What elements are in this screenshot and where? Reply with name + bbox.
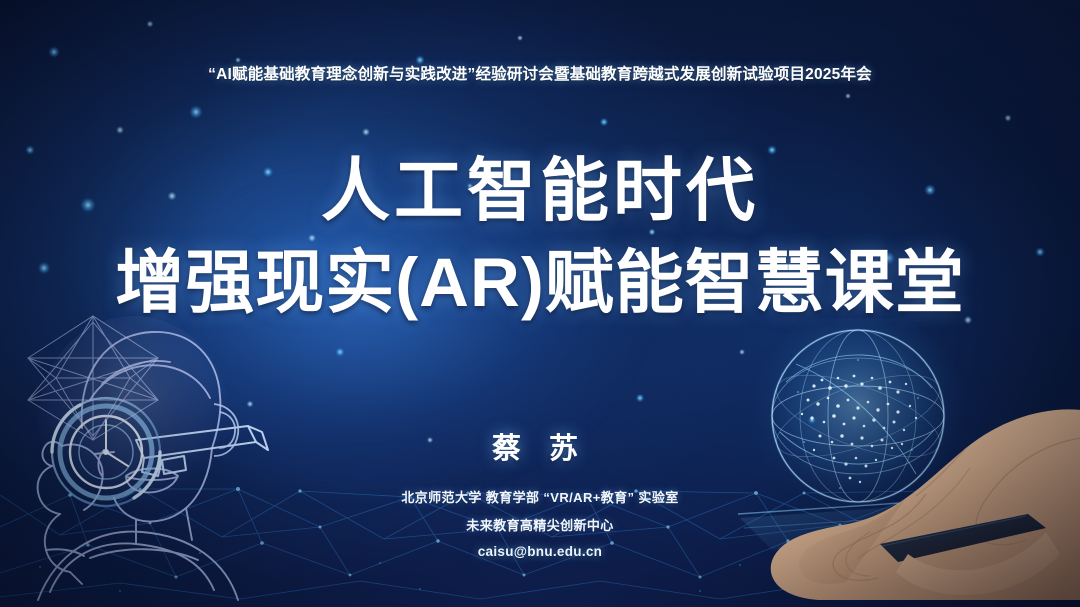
speaker-email: caisu@bnu.edu.cn xyxy=(0,544,1080,559)
speaker-affiliation-lab: 北京师范大学 教育学部 “VR/AR+教育” 实验室 xyxy=(0,487,1080,506)
conference-header-text: “AI赋能基础教育理念创新与实践改进”经验研讨会暨基础教育跨越式发展创新试验项目… xyxy=(208,62,872,84)
title-line-2: 增强现实(AR)赋能智慧课堂 xyxy=(0,240,1080,326)
title-block: 人工智能时代 增强现实(AR)赋能智慧课堂 xyxy=(0,150,1080,326)
speaker-block: 蔡 苏 北京师范大学 教育学部 “VR/AR+教育” 实验室 未来教育高精尖创新… xyxy=(0,425,1080,559)
speaker-name: 蔡 苏 xyxy=(0,425,1080,467)
speaker-affiliation-center: 未来教育高精尖创新中心 xyxy=(0,515,1080,534)
title-line-1: 人工智能时代 xyxy=(0,150,1080,232)
presentation-slide: “AI赋能基础教育理念创新与实践改进”经验研讨会暨基础教育跨越式发展创新试验项目… xyxy=(0,0,1080,607)
conference-header: “AI赋能基础教育理念创新与实践改进”经验研讨会暨基础教育跨越式发展创新试验项目… xyxy=(0,62,1080,84)
